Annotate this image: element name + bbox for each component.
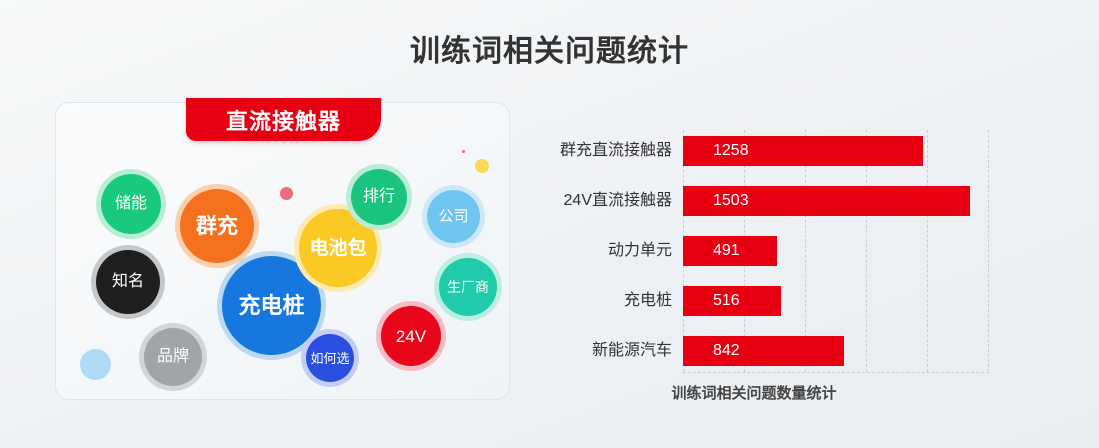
pink-dot xyxy=(280,187,293,200)
keyword-ribbon-label: 直流接触器 xyxy=(226,104,341,136)
bar-row[interactable]: 动力单元491 xyxy=(520,236,1060,266)
keyword-bubble-label: 群充 xyxy=(196,216,238,237)
bar-category-label: 动力单元 xyxy=(520,236,672,266)
keyword-bubble-label: 如何选 xyxy=(310,352,349,365)
keyword-bubble-label: 生厂商 xyxy=(447,280,489,294)
bubble-cloud-panel: 储能群充知名充电桩电池包排行公司生厂商24V如何选品牌 xyxy=(55,102,510,400)
tiny-red-dot xyxy=(462,150,465,153)
keyword-bubble[interactable]: 如何选 xyxy=(306,334,354,382)
bar-value-label: 516 xyxy=(713,286,740,316)
keyword-bubble-label: 公司 xyxy=(438,209,468,224)
chart-caption: 训练词相关问题数量统计 xyxy=(520,382,988,403)
keyword-bubble[interactable]: 排行 xyxy=(351,169,407,225)
bar-value-label: 1258 xyxy=(713,136,749,166)
bar-row[interactable]: 群充直流接触器1258 xyxy=(520,136,1060,166)
keyword-bubble-label: 储能 xyxy=(115,196,147,212)
keyword-bubble[interactable]: 生厂商 xyxy=(439,258,497,316)
bar-category-label: 充电桩 xyxy=(520,286,672,316)
keyword-bubble-label: 排行 xyxy=(363,189,395,205)
bar-row[interactable]: 新能源汽车842 xyxy=(520,336,1060,366)
keyword-bubble[interactable]: 知名 xyxy=(96,250,160,314)
keyword-bubble[interactable]: 储能 xyxy=(101,174,161,234)
keyword-bubble-label: 充电桩 xyxy=(238,295,304,317)
keyword-bubble[interactable]: 群充 xyxy=(180,189,254,263)
bar[interactable] xyxy=(683,336,844,366)
bar-category-label: 24V直流接触器 xyxy=(520,186,672,216)
bar-category-label: 群充直流接触器 xyxy=(520,136,672,166)
bar-chart: 群充直流接触器125824V直流接触器1503动力单元491充电桩516新能源汽… xyxy=(520,130,1060,372)
bar-value-label: 1503 xyxy=(713,186,749,216)
keyword-bubble[interactable]: 24V xyxy=(381,306,441,366)
light-blue-dot xyxy=(80,349,111,380)
keyword-bubble-label: 品牌 xyxy=(157,349,189,365)
chart-baseline xyxy=(683,372,989,373)
bar-value-label: 842 xyxy=(713,336,740,366)
bar-value-label: 491 xyxy=(713,236,740,266)
bar-row[interactable]: 24V直流接触器1503 xyxy=(520,186,1060,216)
bar-category-label: 新能源汽车 xyxy=(520,336,672,366)
keyword-bubble[interactable]: 公司 xyxy=(427,190,480,243)
keyword-ribbon-banner: 直流接触器 xyxy=(186,98,381,141)
keyword-bubble[interactable]: 品牌 xyxy=(144,328,202,386)
page-title: 训练词相关问题统计 xyxy=(0,26,1099,70)
keyword-bubble-label: 24V xyxy=(396,328,426,345)
keyword-bubble-label: 知名 xyxy=(112,274,144,290)
bar-row[interactable]: 充电桩516 xyxy=(520,286,1060,316)
keyword-bubble-label: 电池包 xyxy=(309,239,366,258)
yellow-dot xyxy=(475,159,489,173)
